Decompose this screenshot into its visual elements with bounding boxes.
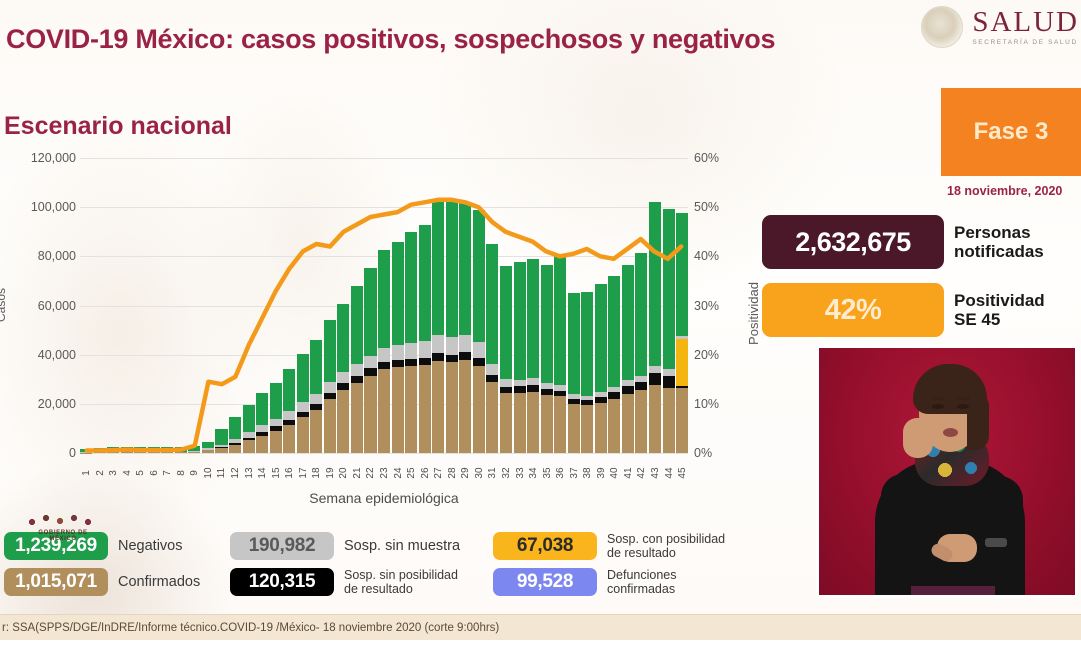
y-axis-right-title: Positividad (746, 282, 761, 345)
legend-item-sosp-con-posibilidad: 67,038 Sosp. con posibilidad de resultad… (493, 532, 725, 560)
y-axis-tick-label: 0 (69, 446, 76, 460)
y2-axis-tick-label: 50% (694, 200, 719, 214)
bottom-strip (0, 640, 1081, 666)
x-axis-labels: 1234567891011121314151617181920212223242… (80, 456, 688, 490)
interpreter-skirt (911, 586, 995, 595)
legend-value-defunciones: 99,528 (517, 571, 573, 593)
phase-badge: Fase 3 (941, 88, 1081, 176)
salud-logo-subtitle: SECRETARÍA DE SALUD (972, 40, 1079, 47)
y-axis-tick-label: 80,000 (38, 249, 76, 263)
stat-personas-notificadas: 2,632,675 Personas notificadas (762, 215, 1044, 269)
interpreter-raised-hand (903, 418, 933, 458)
interpreter-hair-side (967, 392, 989, 450)
video-frame (819, 348, 1075, 595)
legend-value-sosp-sin-muestra: 190,982 (249, 535, 316, 557)
legend-label-confirmados: Confirmados (118, 574, 200, 590)
page-title: COVID-19 México: casos positivos, sospec… (6, 24, 775, 55)
legend-item-defunciones: 99,528 Defunciones confirmadas (493, 568, 677, 596)
y-axis-left-title: Casos (0, 288, 8, 322)
y2-axis-tick-label: 10% (694, 397, 719, 411)
gobierno-figures-icon (24, 508, 102, 530)
stat-caption-positividad-line1: Positividad (954, 291, 1045, 310)
legend-value-sosp-sin-posibilidad: 120,315 (249, 571, 316, 593)
y-axis-tick-label: 20,000 (38, 397, 76, 411)
stat-caption-notificadas-line1: Personas (954, 223, 1044, 242)
stat-caption-positividad: Positividad SE 45 (954, 291, 1045, 329)
interpreter-eye-left (932, 404, 944, 409)
interpreter-mouth (943, 428, 958, 437)
legend-pill-confirmados: 1,015,071 (4, 568, 108, 596)
x-axis-title: Semana epidemiológica (80, 490, 688, 506)
stat-value-notificadas: 2,632,675 (795, 227, 911, 258)
stat-positividad: 42% Positividad SE 45 (762, 283, 1045, 337)
legend-label-negativos: Negativos (118, 538, 182, 554)
legend-label-sosp-con-posibilidad: Sosp. con posibilidad de resultado (607, 532, 725, 560)
salud-logo: SALUD SECRETARÍA DE SALUD (921, 6, 1079, 48)
interpreter-eyebrow-right (956, 397, 970, 400)
stat-value-positividad: 42% (825, 294, 882, 327)
legend-label-sosp-sin-posibilidad: Sosp. sin posibilidad de resultado (344, 568, 458, 596)
legend-item-sosp-sin-posibilidad: 120,315 Sosp. sin posibilidad de resulta… (230, 568, 458, 596)
y-axis-tick-label: 40,000 (38, 348, 76, 362)
interpreter-watch (985, 538, 1007, 547)
interpreter-eye-right (957, 404, 969, 409)
sign-language-interpreter-video[interactable] (816, 345, 1078, 598)
legend-label-sosp-sin-muestra: Sosp. sin muestra (344, 538, 460, 554)
legend-pill-sosp-con-posibilidad: 67,038 (493, 532, 597, 560)
stat-caption-notificadas: Personas notificadas (954, 223, 1044, 261)
salud-logo-title: SALUD (972, 8, 1079, 37)
y2-axis-tick-label: 20% (694, 348, 719, 362)
gridline (80, 453, 688, 454)
legend-label-defunciones: Defunciones confirmadas (607, 568, 677, 596)
header: COVID-19 México: casos positivos, sospec… (0, 0, 1081, 80)
stat-pill-notificadas: 2,632,675 (762, 215, 944, 269)
gobierno-seal-text: GOBIERNO DE MÉXICO (24, 530, 102, 542)
legend-pill-sosp-sin-posibilidad: 120,315 (230, 568, 334, 596)
stat-pill-positividad: 42% (762, 283, 944, 337)
y2-axis-tick-label: 60% (694, 151, 719, 165)
source-text: r: SSA(SPPS/DGE/InDRE/Informe técnico.CO… (0, 622, 499, 634)
legend-value-confirmados: 1,015,071 (15, 571, 97, 593)
section-title: Escenario nacional (4, 112, 232, 141)
chart-legend: 1,239,269 Negativos 1,015,071 Confirmado… (0, 528, 810, 606)
positivity-line (80, 158, 688, 453)
source-footer: r: SSA(SPPS/DGE/InDRE/Informe técnico.CO… (0, 614, 1081, 640)
legend-item-confirmados: 1,015,071 Confirmados (4, 568, 200, 596)
legend-value-sosp-con-posibilidad: 67,038 (517, 535, 573, 557)
y-axis-tick-label: 60,000 (38, 299, 76, 313)
epidemiological-chart: 020,00040,00060,00080,000100,000120,000 … (0, 148, 770, 508)
y-axis-tick-label: 120,000 (31, 151, 76, 165)
y-axis-left: 020,00040,00060,00080,000100,000120,000 (8, 148, 76, 453)
y-axis-right: 0%10%20%30%40%50%60% (694, 148, 742, 453)
y2-axis-tick-label: 30% (694, 299, 719, 313)
y2-axis-tick-label: 0% (694, 446, 712, 460)
salud-wordmark: SALUD SECRETARÍA DE SALUD (972, 8, 1079, 47)
stat-caption-positividad-line2: SE 45 (954, 310, 1045, 329)
legend-pill-sosp-sin-muestra: 190,982 (230, 532, 334, 560)
phase-date: 18 noviembre, 2020 (947, 184, 1062, 198)
legend-pill-defunciones: 99,528 (493, 568, 597, 596)
chart-plot-area (80, 158, 688, 453)
interpreter-eyebrow-left (931, 397, 945, 400)
y-axis-tick-label: 100,000 (31, 200, 76, 214)
mexico-eagle-icon (921, 6, 963, 48)
x-axis-tick-label: 45 (665, 467, 699, 479)
y2-axis-tick-label: 40% (694, 249, 719, 263)
gobierno-de-mexico-seal: GOBIERNO DE MÉXICO (24, 508, 102, 554)
stat-caption-notificadas-line2: notificadas (954, 242, 1044, 261)
phase-label: Fase 3 (974, 118, 1049, 146)
legend-item-sosp-sin-muestra: 190,982 Sosp. sin muestra (230, 532, 460, 560)
